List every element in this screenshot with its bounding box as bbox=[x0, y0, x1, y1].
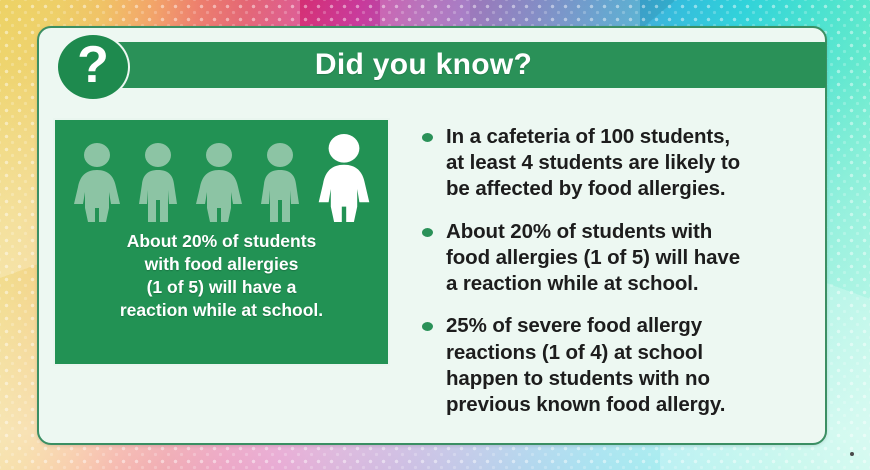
background-speck bbox=[850, 452, 854, 456]
did-you-know-card: Did you know? ? bbox=[37, 26, 827, 445]
question-mark-icon: ? bbox=[56, 33, 130, 101]
facts-list: In a cafeteria of 100 students, at least… bbox=[422, 124, 814, 418]
fact-line: About 20% of students with bbox=[446, 219, 740, 245]
fact-line: food allergies (1 of 5) will have bbox=[446, 245, 740, 271]
person-male-icon bbox=[254, 142, 306, 222]
fact-line: be affected by food allergies. bbox=[446, 176, 740, 202]
stat-caption-line: with food allergies bbox=[120, 253, 323, 276]
bullet-dot-icon bbox=[422, 322, 433, 331]
person-female-highlighted-icon bbox=[315, 134, 373, 222]
fact-line: a reaction while at school. bbox=[446, 271, 740, 297]
bullet-dot-icon bbox=[422, 133, 433, 142]
fact-line: at least 4 students are likely to bbox=[446, 150, 740, 176]
fact-line: In a cafeteria of 100 students, bbox=[446, 124, 740, 150]
person-female-icon bbox=[193, 142, 245, 222]
fact-line: 25% of severe food allergy bbox=[446, 313, 725, 339]
person-male-icon bbox=[132, 142, 184, 222]
list-item: About 20% of students with food allergie… bbox=[422, 219, 814, 298]
fact-line: reactions (1 of 4) at school bbox=[446, 340, 725, 366]
list-item: In a cafeteria of 100 students, at least… bbox=[422, 124, 814, 203]
list-item: 25% of severe food allergy reactions (1 … bbox=[422, 313, 814, 418]
fact-line: happen to students with no bbox=[446, 366, 725, 392]
stat-caption-line: reaction while at school. bbox=[120, 299, 323, 322]
card-body: About 20% of students with food allergie… bbox=[39, 100, 825, 443]
question-mark-glyph: ? bbox=[77, 39, 109, 91]
fact-text: In a cafeteria of 100 students, at least… bbox=[446, 124, 740, 203]
card-header-banner: Did you know? bbox=[91, 42, 826, 88]
person-female-icon bbox=[71, 142, 123, 222]
pictogram-people-row bbox=[71, 136, 373, 222]
page-title: Did you know? bbox=[315, 48, 602, 82]
stat-panel: About 20% of students with food allergie… bbox=[53, 118, 390, 366]
stat-caption-line: (1 of 5) will have a bbox=[120, 276, 323, 299]
stat-caption-line: About 20% of students bbox=[120, 230, 323, 253]
stat-panel-caption: About 20% of students with food allergie… bbox=[110, 230, 333, 322]
fact-line: previous known food allergy. bbox=[446, 392, 725, 418]
bullet-dot-icon bbox=[422, 228, 433, 237]
fact-text: About 20% of students with food allergie… bbox=[446, 219, 740, 298]
fact-text: 25% of severe food allergy reactions (1 … bbox=[446, 313, 725, 418]
infographic-canvas: Did you know? ? bbox=[0, 0, 870, 470]
